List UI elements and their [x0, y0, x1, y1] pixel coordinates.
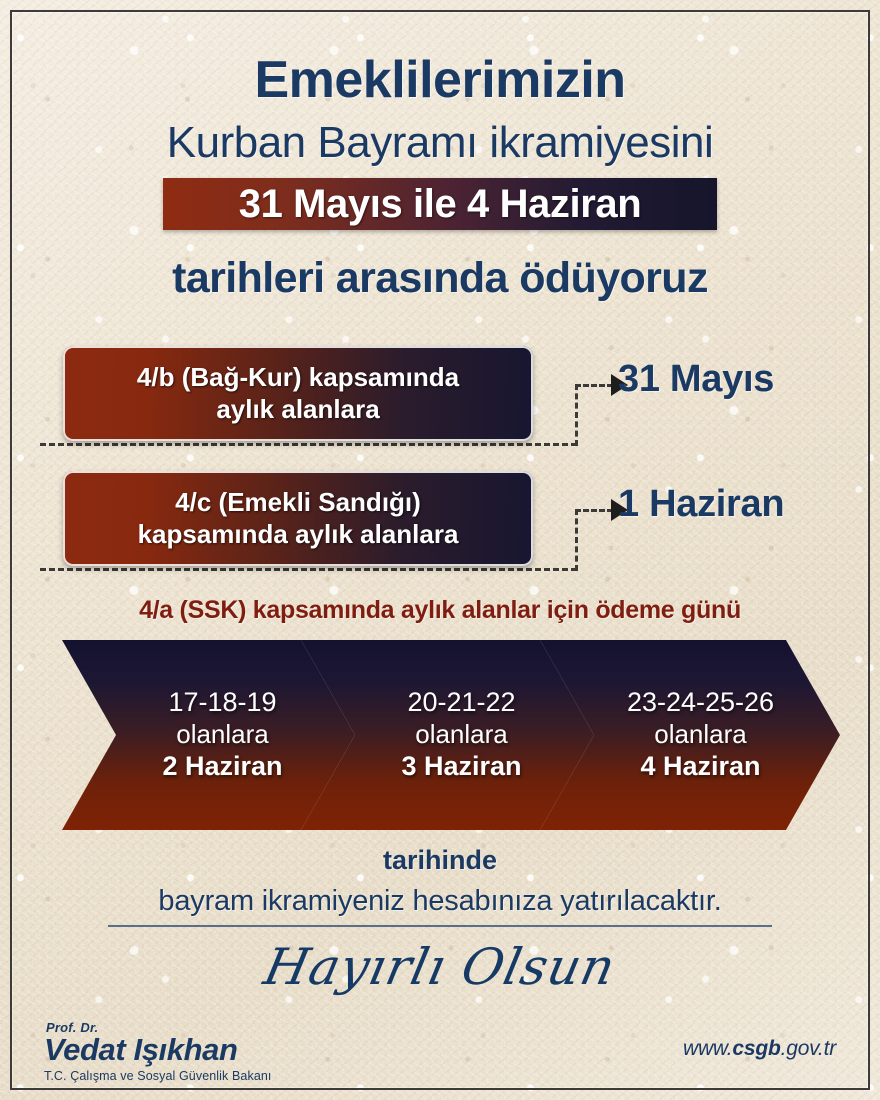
callout-date-bagkur: 31 Mayıs: [618, 358, 868, 401]
callout-box-bagkur-line-2: aylık alanlara: [216, 394, 379, 424]
callout-box-emeklisandigi: 4/c (Emekli Sandığı) kapsamında aylık al…: [63, 471, 533, 566]
website-url-suffix: .gov.tr: [781, 1037, 836, 1060]
website-url[interactable]: www.csgb.gov.tr: [683, 1037, 836, 1061]
chevron-3-suffix: olanlara: [605, 719, 797, 750]
headline-line-1: Emeklilerimizin: [0, 50, 880, 110]
dashed-connector-horizontal: [40, 568, 577, 571]
chevron-1-days: 17-18-19: [127, 687, 319, 719]
dashed-connector-vertical: [575, 384, 578, 446]
chevron-slot-3: 23-24-25-26 olanlara 4 Haziran: [540, 640, 848, 830]
dashed-connector-horizontal: [40, 443, 577, 446]
chevron-3-date: 4 Haziran: [605, 751, 797, 783]
callout-row-emeklisandigi: 4/c (Emekli Sandığı) kapsamında aylık al…: [0, 465, 880, 575]
minister-name: Vedat Işıkhan: [44, 1034, 272, 1067]
ssk-section-heading: 4/a (SSK) kapsamında aylık alanlar için …: [0, 596, 880, 625]
dashed-connector-to-arrow: [575, 509, 613, 512]
dashed-connector-vertical: [575, 509, 578, 571]
closing-line-2: bayram ikramiyeniz hesabınıza yatırılaca…: [0, 885, 880, 918]
chevron-2-date: 3 Haziran: [366, 751, 558, 783]
poster-content: Emeklilerimizin Kurban Bayramı ikramiyes…: [0, 0, 880, 1100]
chevron-1-suffix: olanlara: [127, 719, 319, 750]
callout-row-bagkur: 4/b (Bağ-Kur) kapsamında aylık alanlara …: [0, 340, 880, 450]
chevron-3: 23-24-25-26 olanlara 4 Haziran: [540, 640, 840, 830]
date-range-banner-text: 31 Mayıs ile 4 Haziran: [239, 182, 642, 227]
headline-line-4: tarihleri arasında ödüyoruz: [0, 254, 880, 303]
minister-signature-block: Prof. Dr. Vedat Işıkhan T.C. Çalışma ve …: [44, 1020, 272, 1083]
chevron-3-days: 23-24-25-26: [605, 687, 797, 719]
callout-box-emeklisandigi-text: 4/c (Emekli Sandığı) kapsamında aylık al…: [138, 487, 459, 549]
website-url-brand: csgb: [732, 1037, 780, 1060]
callout-box-bagkur-line-1: 4/b (Bağ-Kur) kapsamında: [137, 362, 459, 392]
chevron-2-suffix: olanlara: [366, 719, 558, 750]
chevron-1-date: 2 Haziran: [127, 751, 319, 783]
chevron-2-text: 20-21-22 olanlara 3 Haziran: [366, 687, 558, 783]
callout-box-emeklisandigi-line-1: 4/c (Emekli Sandığı): [175, 487, 421, 517]
dashed-connector-to-arrow: [575, 384, 613, 387]
script-greeting: Hayırlı Olsun: [0, 938, 880, 996]
callout-box-emeklisandigi-line-2: kapsamında aylık alanlara: [138, 519, 459, 549]
closing-line-1: tarihinde: [0, 845, 880, 876]
callout-box-bagkur-text: 4/b (Bağ-Kur) kapsamında aylık alanlara: [137, 362, 459, 424]
date-range-banner: 31 Mayıs ile 4 Haziran: [163, 178, 717, 230]
callout-box-bagkur: 4/b (Bağ-Kur) kapsamında aylık alanlara: [63, 346, 533, 441]
chevron-3-text: 23-24-25-26 olanlara 4 Haziran: [605, 687, 797, 783]
ssk-chevron-row: 17-18-19 olanlara 2 Haziran 20-21-22 ola…: [62, 640, 822, 830]
callout-date-emeklisandigi: 1 Haziran: [618, 483, 868, 526]
divider-rule: [108, 925, 772, 927]
chevron-1-text: 17-18-19 olanlara 2 Haziran: [127, 687, 319, 783]
minister-role: T.C. Çalışma ve Sosyal Güvenlik Bakanı: [44, 1069, 272, 1083]
chevron-2-days: 20-21-22: [366, 687, 558, 719]
website-url-prefix: www.: [683, 1037, 732, 1060]
headline-line-2: Kurban Bayramı ikramiyesini: [0, 118, 880, 168]
